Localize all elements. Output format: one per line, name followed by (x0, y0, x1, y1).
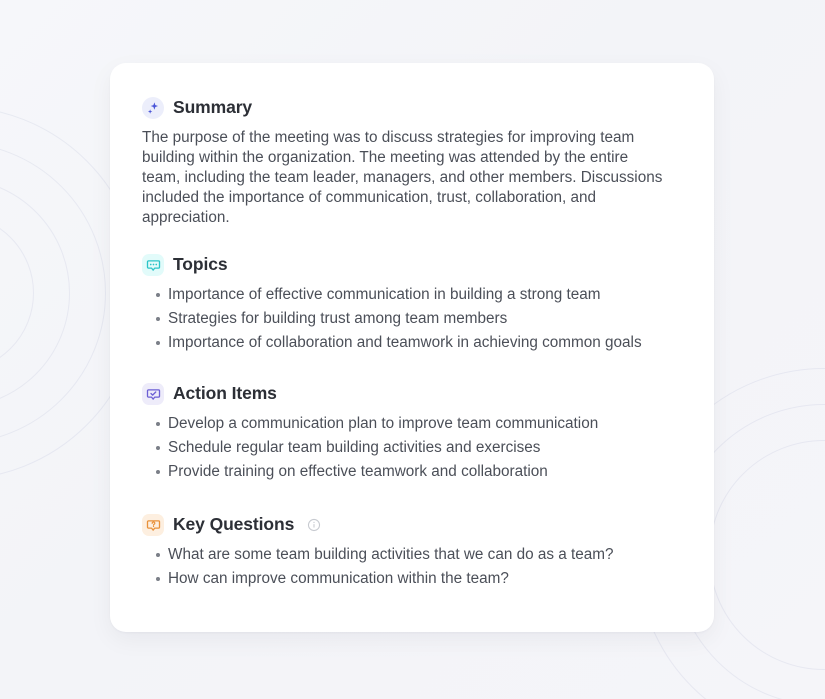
list-item: What are some team building activities t… (142, 545, 682, 565)
action-items-list: Develop a communication plan to improve … (142, 414, 682, 482)
section-header-action-items: Action Items (142, 383, 682, 405)
background-ring-decor (0, 178, 70, 408)
sparkle-icon (142, 97, 164, 119)
section-header-key-questions: Key Questions (142, 514, 682, 536)
section-title-key-questions: Key Questions (173, 515, 294, 534)
section-header-topics: Topics (142, 254, 682, 276)
section-key-questions: Key Questions What are some team buildin… (142, 514, 682, 589)
list-item: Importance of effective communication in… (142, 285, 682, 305)
list-item: Importance of collaboration and teamwork… (142, 333, 682, 353)
info-circle-icon[interactable] (307, 518, 321, 532)
background-ring-decor (0, 142, 106, 444)
list-item: Develop a communication plan to improve … (142, 414, 682, 434)
chat-check-icon (142, 383, 164, 405)
section-topics: Topics Importance of effective communica… (142, 254, 682, 353)
chat-question-icon (142, 514, 164, 536)
key-questions-list: What are some team building activities t… (142, 545, 682, 589)
summary-paragraph: The purpose of the meeting was to discus… (142, 128, 668, 228)
list-item: How can improve communication within the… (142, 569, 682, 589)
background-ring-decor (709, 440, 825, 670)
list-item: Schedule regular team building activitie… (142, 438, 682, 458)
background-ring-decor (0, 214, 34, 372)
section-summary: Summary The purpose of the meeting was t… (142, 97, 682, 228)
section-title-summary: Summary (173, 98, 252, 117)
topics-list: Importance of effective communication in… (142, 285, 682, 353)
list-item: Strategies for building trust among team… (142, 309, 682, 329)
section-title-topics: Topics (173, 255, 228, 274)
section-header-summary: Summary (142, 97, 682, 119)
section-action-items: Action Items Develop a communication pla… (142, 383, 682, 482)
meeting-summary-card: Summary The purpose of the meeting was t… (110, 63, 714, 632)
section-title-action-items: Action Items (173, 384, 277, 403)
chat-dots-icon (142, 254, 164, 276)
list-item: Provide training on effective teamwork a… (142, 462, 682, 482)
page-backdrop: Summary The purpose of the meeting was t… (0, 0, 825, 699)
